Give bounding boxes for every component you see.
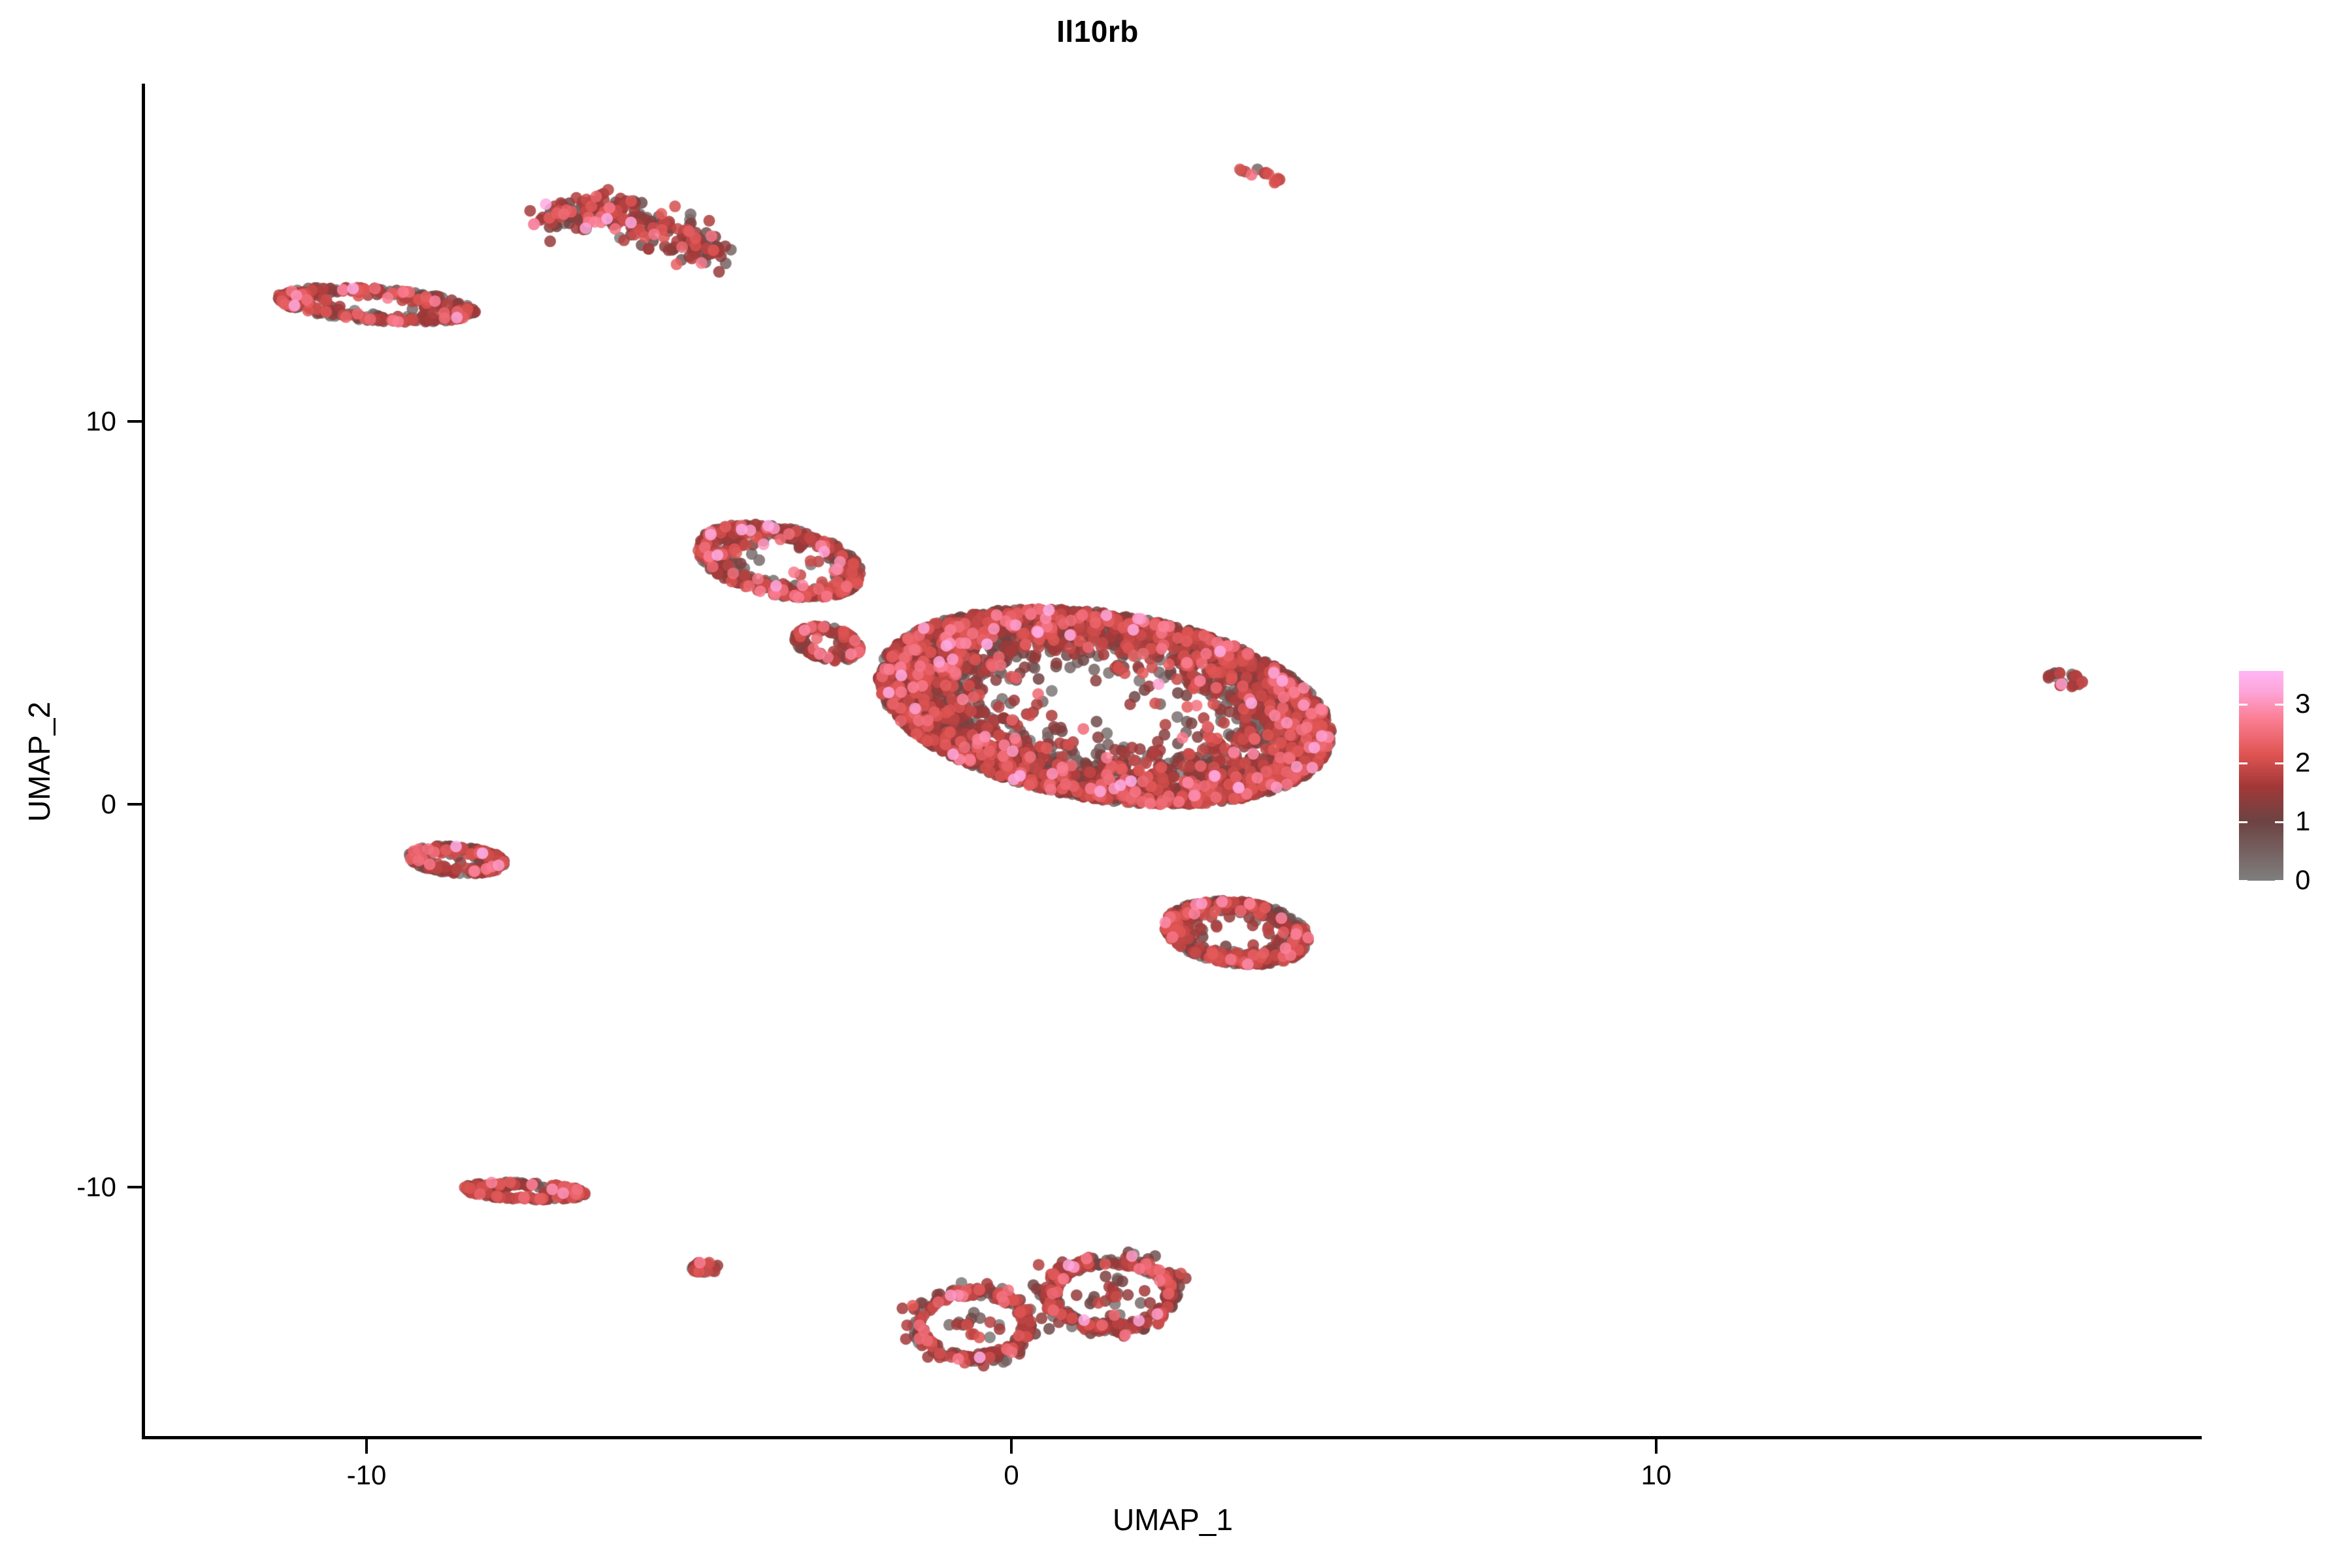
colorbar-tick-mark (2239, 880, 2247, 882)
y-axis-line (142, 84, 145, 1439)
colorbar-tick-mark (2239, 762, 2247, 764)
colorbar-tick-label: 3 (2295, 687, 2310, 721)
colorbar-tick-mark (2275, 762, 2283, 764)
umap-feature-plot: Il10rb -10010 -10010 UMAP_1 UMAP_2 0123 (0, 0, 2352, 1568)
y-tick-label: 0 (0, 787, 116, 821)
colorbar-tick-label: 2 (2295, 745, 2310, 779)
colorbar-gradient (2239, 671, 2283, 881)
y-tick-mark (127, 1186, 142, 1188)
x-axis-label: UMAP_1 (144, 1501, 2202, 1538)
y-axis-label: UMAP_2 (21, 402, 57, 1121)
y-tick-label: -10 (0, 1170, 116, 1204)
colorbar-tick-mark (2275, 821, 2283, 823)
y-tick-mark (127, 803, 142, 806)
y-tick-mark (127, 420, 142, 423)
colorbar-tick-mark (2275, 704, 2283, 706)
x-tick-mark (365, 1439, 368, 1454)
colorbar-legend: 0123 (2239, 671, 2337, 887)
colorbar-tick-label: 0 (2295, 863, 2310, 897)
colorbar-tick-label: 1 (2295, 804, 2310, 838)
x-tick-label: 10 (1591, 1458, 1722, 1492)
page-title: Il10rb (0, 12, 2195, 51)
x-tick-mark (1010, 1439, 1013, 1454)
colorbar-tick-mark (2239, 821, 2247, 823)
colorbar-tick-mark (2239, 704, 2247, 706)
x-tick-label: 0 (946, 1458, 1077, 1492)
x-tick-label: -10 (301, 1458, 432, 1492)
colorbar-tick-mark (2275, 880, 2283, 882)
x-axis-line (142, 1436, 2202, 1439)
x-tick-mark (1655, 1439, 1658, 1454)
plot-panel (144, 84, 2202, 1437)
y-tick-label: 10 (0, 404, 116, 438)
